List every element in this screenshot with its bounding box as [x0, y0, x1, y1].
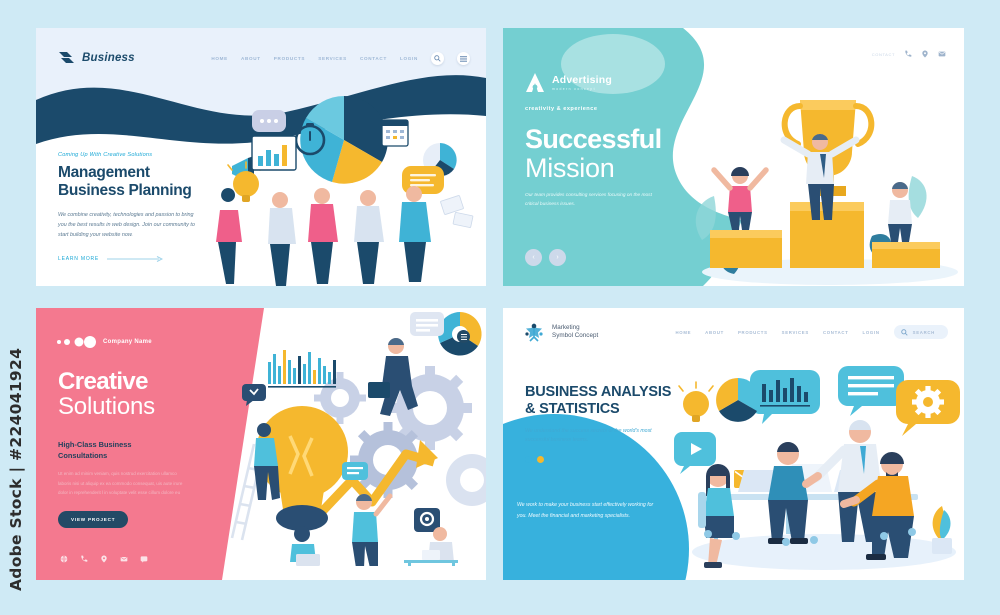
menu-icon — [460, 56, 467, 62]
mockup-successful-mission: Advertising modern concept CONTACT creat… — [503, 28, 964, 286]
chat-icon[interactable] — [140, 555, 148, 563]
m1-hero-title-line1: Management — [58, 164, 218, 182]
m3-menu-button[interactable] — [457, 330, 470, 343]
m1-hero-eyebrow: Coming Up With Creative Solutions — [58, 152, 218, 158]
m3-hero-subtitle-line2: Consultations — [58, 451, 178, 462]
swoosh-logo-icon — [58, 50, 75, 65]
m1-hero-title: Management Business Planning — [58, 164, 218, 201]
m2-topbar-label[interactable]: CONTACT — [872, 52, 895, 57]
phone-icon[interactable] — [80, 555, 88, 563]
m1-nav-item-products[interactable]: PRODUCTS — [274, 56, 305, 61]
m2-carousel-prev-button[interactable]: ‹ — [525, 249, 542, 266]
m2-carousel-controls: ‹ › — [525, 249, 566, 266]
m4-nav-item-about[interactable]: ABOUT — [705, 330, 724, 335]
m3-hero-body: Ut enim ad minim veniam, quis nostrud ex… — [58, 469, 190, 497]
m1-illustration-team-analytics — [204, 88, 486, 286]
m1-nav-item-services[interactable]: SERVICES — [318, 56, 347, 61]
m2-hero-title-line2: Mission — [525, 154, 740, 183]
m1-hero-title-line2: Business Planning — [58, 182, 218, 200]
m4-search-box[interactable]: SEARCH — [894, 325, 948, 339]
m3-hero-text: Creative Solutions High-Class Business C… — [58, 370, 248, 528]
m3-hero-subtitle-line1: High-Class Business — [58, 440, 178, 451]
m2-hero-text: creativity & experience Successful Missi… — [525, 106, 740, 209]
m1-nav-item-login[interactable]: LOGIN — [400, 56, 418, 61]
m2-carousel-next-button[interactable]: › — [549, 249, 566, 266]
m4-hero-body: We understand the success secrets of the… — [525, 427, 665, 446]
m4-navigation: HOME ABOUT PRODUCTS SERVICES CONTACT LOG… — [675, 325, 948, 339]
m3-illustration-idea-gears — [224, 312, 486, 566]
m4-logo[interactable]: Marketing Symbol Concept — [523, 321, 598, 343]
mockup-management-business-planning: Business HOME ABOUT PRODUCTS SERVICES CO… — [36, 28, 486, 286]
m4-nav-item-login[interactable]: LOGIN — [863, 330, 880, 335]
person-star-logo-icon — [523, 321, 545, 343]
m3-hero-title-line1: Creative — [58, 370, 248, 394]
m3-hero-title-line2: Solutions — [58, 394, 248, 421]
m2-hero-title-line1: Successful — [525, 126, 740, 154]
m2-logo-text-group: Advertising modern concept — [552, 74, 612, 91]
m4-logo-text-group: Marketing Symbol Concept — [552, 324, 598, 341]
watermark-strip: Adobe Stock | #224041924 — [0, 0, 32, 615]
m1-nav-item-home[interactable]: HOME — [211, 56, 228, 61]
m4-search-label: SEARCH — [913, 330, 935, 335]
m1-hero-text: Coming Up With Creative Solutions Manage… — [58, 152, 218, 262]
m3-logo[interactable]: Company Name — [56, 336, 152, 348]
m4-circle-body-text: We work to make your business start effe… — [517, 500, 657, 522]
m4-carousel-dots — [525, 456, 725, 463]
m2-logo-subtitle: modern concept — [552, 87, 612, 91]
mail-icon[interactable] — [120, 555, 128, 563]
m4-hero-title-line2: & STATISTICS — [525, 401, 725, 418]
m4-hero-title: BUSINESS ANALYSIS & STATISTICS — [525, 384, 725, 419]
m4-nav-item-contact[interactable]: CONTACT — [823, 330, 849, 335]
dots-logo-icon — [56, 336, 96, 348]
m3-social-links — [60, 555, 148, 563]
location-icon[interactable] — [100, 555, 108, 563]
m1-hero-body: We combine creativity, technologies and … — [58, 210, 203, 240]
phone-icon[interactable] — [904, 50, 912, 58]
m1-learn-more-label: LEARN MORE — [58, 256, 99, 262]
m2-logo[interactable]: Advertising modern concept — [525, 72, 612, 93]
m1-learn-more-link[interactable]: LEARN MORE — [58, 256, 218, 262]
m2-topbar: CONTACT — [872, 50, 946, 58]
m4-hero-title-line1: BUSINESS ANALYSIS — [525, 384, 725, 401]
m4-logo-line2: Symbol Concept — [552, 332, 598, 341]
m1-search-button[interactable] — [431, 52, 444, 65]
m4-nav-item-home[interactable]: HOME — [675, 330, 691, 335]
m3-logo-label: Company Name — [103, 339, 152, 345]
globe-icon[interactable] — [60, 555, 68, 563]
m2-hero-eyebrow: creativity & experience — [525, 106, 740, 112]
mockup-creative-solutions: Company Name Creative Solutions High-Cla… — [36, 308, 486, 580]
search-icon — [434, 55, 441, 62]
m1-navigation: HOME ABOUT PRODUCTS SERVICES CONTACT LOG… — [211, 52, 470, 65]
menu-icon — [461, 334, 467, 340]
location-icon[interactable] — [921, 50, 929, 58]
m3-hero-subtitle: High-Class Business Consultations — [58, 440, 178, 461]
m1-nav-item-about[interactable]: ABOUT — [241, 56, 261, 61]
m1-nav-item-contact[interactable]: CONTACT — [360, 56, 387, 61]
arrow-right-icon — [107, 256, 163, 262]
m4-carousel-dot-2[interactable] — [537, 456, 544, 463]
m2-hero-body: Our team provides consulting services fo… — [525, 191, 653, 209]
m4-carousel-dot-1[interactable] — [525, 456, 532, 463]
m4-hero-text: BUSINESS ANALYSIS & STATISTICS We unders… — [525, 384, 725, 463]
m4-nav-item-services[interactable]: SERVICES — [782, 330, 809, 335]
search-icon — [901, 329, 908, 336]
m4-logo-line1: Marketing — [552, 324, 598, 333]
watermark-label: Adobe Stock | #224041924 — [0, 0, 32, 615]
triangle-a-logo-icon — [525, 72, 545, 93]
m3-view-project-button[interactable]: VIEW PROJECT — [58, 511, 128, 528]
m1-logo-label: Business — [82, 52, 135, 64]
mail-icon[interactable] — [938, 50, 946, 58]
mockup-business-analysis-statistics: We work to make your business start effe… — [503, 308, 964, 580]
m1-menu-button[interactable] — [457, 52, 470, 65]
m2-logo-name: Advertising — [552, 74, 612, 86]
m4-nav-item-products[interactable]: PRODUCTS — [738, 330, 768, 335]
m1-logo[interactable]: Business — [58, 50, 135, 65]
